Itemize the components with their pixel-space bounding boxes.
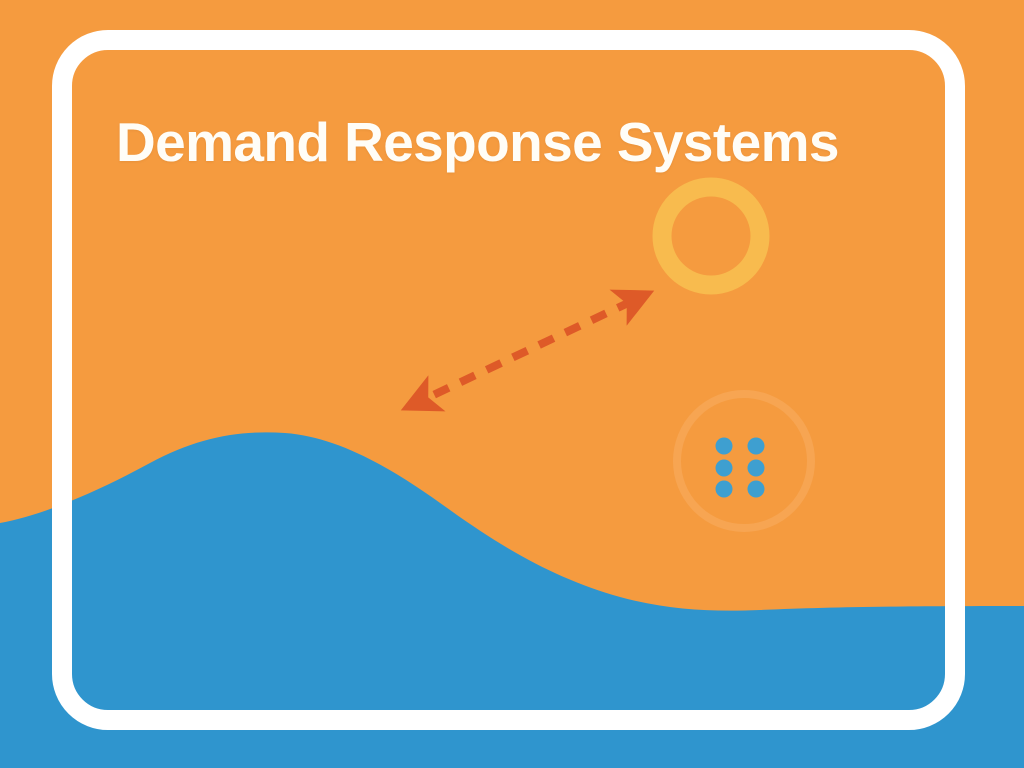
dot-grid-dot: [716, 460, 733, 477]
slide-canvas: Demand Response Systems: [0, 0, 1024, 768]
dot-grid-dot: [748, 481, 765, 498]
dot-grid-dot: [748, 460, 765, 477]
dot-grid-dot: [716, 438, 733, 455]
slide-artwork: [0, 0, 1024, 768]
dot-grid-dot: [748, 438, 765, 455]
dot-grid-dot: [716, 481, 733, 498]
